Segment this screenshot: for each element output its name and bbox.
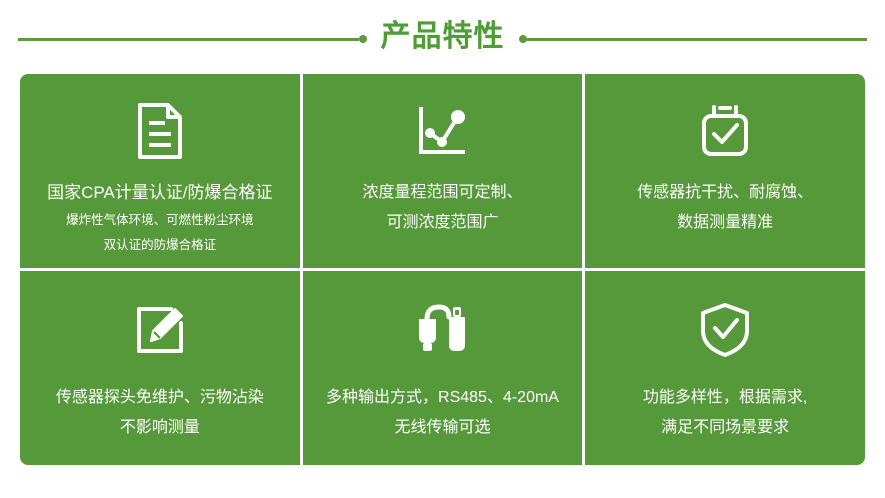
feature-subtitle-line-2: 双认证的防爆合格证 xyxy=(104,233,217,258)
feature-text-block: 功能多样性，根据需求, 满足不同场景要求 xyxy=(599,383,851,443)
feature-subtitle-line-1: 爆炸性气体环境、可燃性粉尘环境 xyxy=(66,208,254,233)
feature-grid: 国家CPA计量认证/防爆合格证 爆炸性气体环境、可燃性粉尘环境 双认证的防爆合格… xyxy=(20,74,865,465)
feature-card-maintenance-free[interactable]: 传感器探头免维护、污物沾染 不影响测量 xyxy=(20,271,300,465)
edit-square-icon xyxy=(131,299,189,361)
feature-line-2: 不影响测量 xyxy=(120,413,200,443)
feature-text-block: 浓度量程范围可定制、 可测浓度范围广 xyxy=(317,178,569,238)
feature-text-block: 传感器探头免维护、污物沾染 不影响测量 xyxy=(34,383,286,443)
header-rule-left xyxy=(18,38,359,41)
feature-card-anti-interference[interactable]: 传感器抗干扰、耐腐蚀、 数据测量精准 xyxy=(585,74,865,268)
feature-text-block: 国家CPA计量认证/防爆合格证 爆炸性气体环境、可燃性粉尘环境 双认证的防爆合格… xyxy=(34,178,286,258)
feature-card-output-options[interactable]: 多种输出方式，RS485、4-20mA 无线传输可选 xyxy=(303,271,583,465)
header-dot-right-icon xyxy=(519,35,527,43)
line-chart-icon xyxy=(413,100,471,162)
section-header: 产品特性 xyxy=(18,6,867,68)
header-dot-left-icon xyxy=(359,35,367,43)
feature-line-1: 传感器抗干扰、耐腐蚀、 xyxy=(637,178,813,208)
feature-card-measuring-range[interactable]: 浓度量程范围可定制、 可测浓度范围广 xyxy=(303,74,583,268)
feature-line-1: 传感器探头免维护、污物沾染 xyxy=(56,383,264,413)
feature-card-certification[interactable]: 国家CPA计量认证/防爆合格证 爆炸性气体环境、可燃性粉尘环境 双认证的防爆合格… xyxy=(20,74,300,268)
feature-text-block: 多种输出方式，RS485、4-20mA 无线传输可选 xyxy=(317,383,569,443)
feature-line-1: 多种输出方式，RS485、4-20mA xyxy=(326,383,559,413)
feature-title: 国家CPA计量认证/防爆合格证 xyxy=(47,178,272,208)
feature-line-2: 可测浓度范围广 xyxy=(386,208,498,238)
feature-line-1: 功能多样性，根据需求, xyxy=(643,383,807,413)
usb-cable-icon xyxy=(411,299,473,361)
feature-line-2: 满足不同场景要求 xyxy=(661,413,789,443)
feature-line-2: 数据测量精准 xyxy=(677,208,773,238)
product-features-section: 产品特性 国家CPA计量认证/防爆合格证 爆炸性气体 xyxy=(0,0,885,498)
feature-text-block: 传感器抗干扰、耐腐蚀、 数据测量精准 xyxy=(599,178,851,238)
header-rule-right xyxy=(527,38,868,41)
clipboard-check-icon xyxy=(696,100,754,162)
feature-card-versatility[interactable]: 功能多样性，根据需求, 满足不同场景要求 xyxy=(585,271,865,465)
shield-check-icon xyxy=(696,299,754,361)
page-title: 产品特性 xyxy=(367,22,519,52)
document-icon xyxy=(132,100,188,162)
feature-line-2: 无线传输可选 xyxy=(394,413,490,443)
feature-line-1: 浓度量程范围可定制、 xyxy=(362,178,522,208)
